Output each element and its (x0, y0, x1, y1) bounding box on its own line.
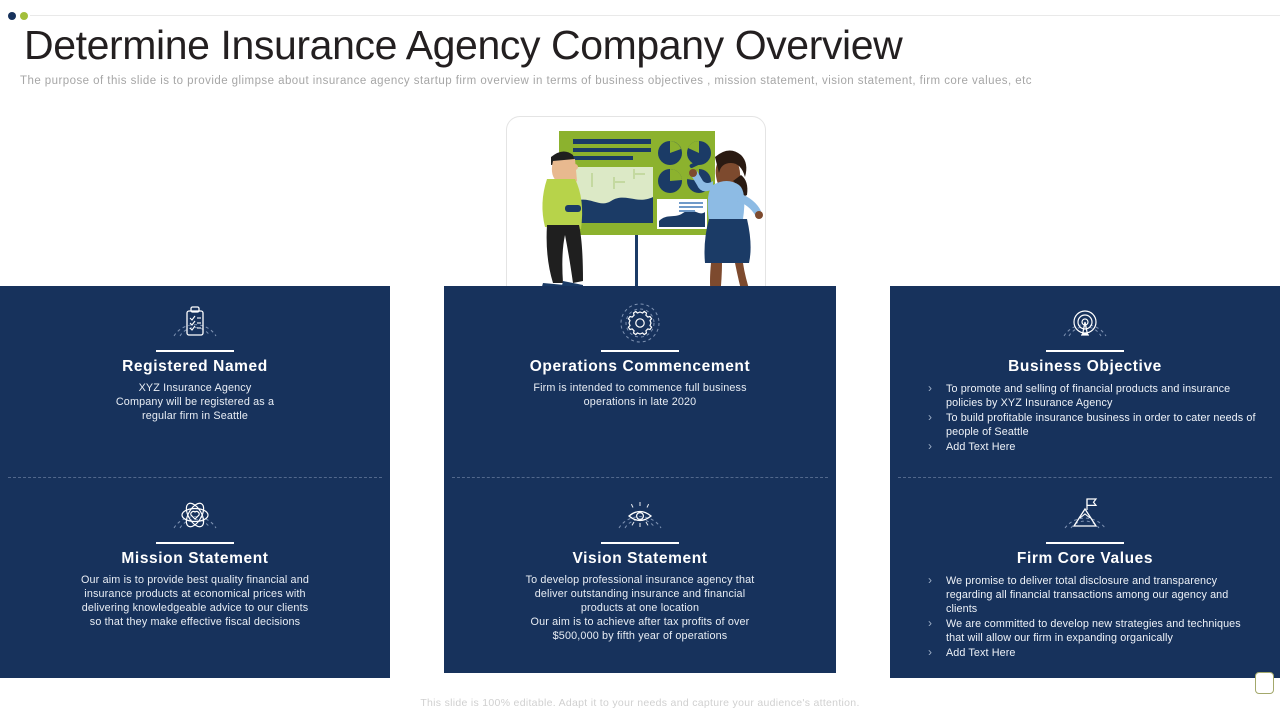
panel-line: Company will be registered as a (34, 395, 356, 409)
gear-icon (444, 286, 836, 346)
panel-line: products at one location (478, 601, 802, 615)
page-subtitle: The purpose of this slide is to provide … (20, 75, 1260, 87)
panel-bullet-list: We promise to deliver total disclosure a… (890, 574, 1280, 660)
column-middle: Operations Commencement Firm is intended… (444, 286, 836, 673)
target-broadcast-icon (890, 286, 1280, 346)
title-rule (601, 542, 679, 544)
panel-line: To develop professional insurance agency… (478, 573, 802, 587)
page-title: Determine Insurance Agency Company Overv… (24, 20, 1264, 70)
top-rule (30, 15, 1280, 16)
panel-title: Business Objective (890, 358, 1280, 376)
panel-firm-core-values: Firm Core Values We promise to deliver t… (890, 478, 1280, 678)
panel-body: XYZ Insurance Agency Company will be reg… (0, 381, 390, 423)
corner-marker (1255, 672, 1274, 694)
list-item: We are committed to develop new strategi… (946, 617, 1262, 645)
panel-line: Our aim is to provide best quality finan… (34, 573, 356, 587)
panel-line: delivering knowledgeable advice to our c… (34, 601, 356, 615)
panel-line: operations in late 2020 (478, 395, 802, 409)
list-item: To build profitable insurance business i… (946, 411, 1262, 439)
panel-title: Registered Named (0, 358, 390, 376)
title-rule (1046, 542, 1124, 544)
panel-body: To develop professional insurance agency… (444, 573, 836, 643)
list-item: Add Text Here (946, 440, 1262, 454)
panel-line: regular firm in Seattle (34, 409, 356, 423)
list-item: To promote and selling of financial prod… (946, 382, 1262, 410)
panel-line: Our aim is to achieve after tax profits … (478, 615, 802, 629)
atom-heart-icon (0, 478, 390, 538)
title-rule (601, 350, 679, 352)
panel-operations-commencement: Operations Commencement Firm is intended… (444, 286, 836, 477)
column-left: Registered Named XYZ Insurance Agency Co… (0, 286, 390, 678)
column-right: Business Objective To promote and sellin… (890, 286, 1280, 678)
eye-vision-icon (444, 478, 836, 538)
panel-body: Our aim is to provide best quality finan… (0, 573, 390, 629)
list-item: Add Text Here (946, 646, 1262, 660)
slide-root: Determine Insurance Agency Company Overv… (0, 0, 1280, 720)
clipboard-checklist-icon (0, 286, 390, 346)
panel-title: Vision Statement (444, 550, 836, 568)
decor-dot-olive (20, 12, 28, 20)
panel-line: Firm is intended to commence full busine… (478, 381, 802, 395)
panel-title: Firm Core Values (890, 550, 1280, 568)
panel-registered-named: Registered Named XYZ Insurance Agency Co… (0, 286, 390, 477)
mountain-flag-icon (890, 478, 1280, 538)
footer-note: This slide is 100% editable. Adapt it to… (0, 697, 1280, 709)
list-item: We promise to deliver total disclosure a… (946, 574, 1262, 616)
panel-title: Mission Statement (0, 550, 390, 568)
panel-line: insurance products at economical prices … (34, 587, 356, 601)
panel-line: XYZ Insurance Agency (34, 381, 356, 395)
panel-vision-statement: Vision Statement To develop professional… (444, 478, 836, 678)
panel-line: $500,000 by fifth year of operations (478, 629, 802, 643)
panel-line: so that they make effective fiscal decis… (34, 615, 356, 629)
title-rule (156, 542, 234, 544)
panel-bullet-list: To promote and selling of financial prod… (890, 382, 1280, 454)
panel-business-objective: Business Objective To promote and sellin… (890, 286, 1280, 477)
panel-body: Firm is intended to commence full busine… (444, 381, 836, 409)
title-rule (156, 350, 234, 352)
decor-dot-navy (8, 12, 16, 20)
panel-title: Operations Commencement (444, 358, 836, 376)
title-rule (1046, 350, 1124, 352)
panel-line: deliver outstanding insurance and financ… (478, 587, 802, 601)
panel-mission-statement: Mission Statement Our aim is to provide … (0, 478, 390, 678)
